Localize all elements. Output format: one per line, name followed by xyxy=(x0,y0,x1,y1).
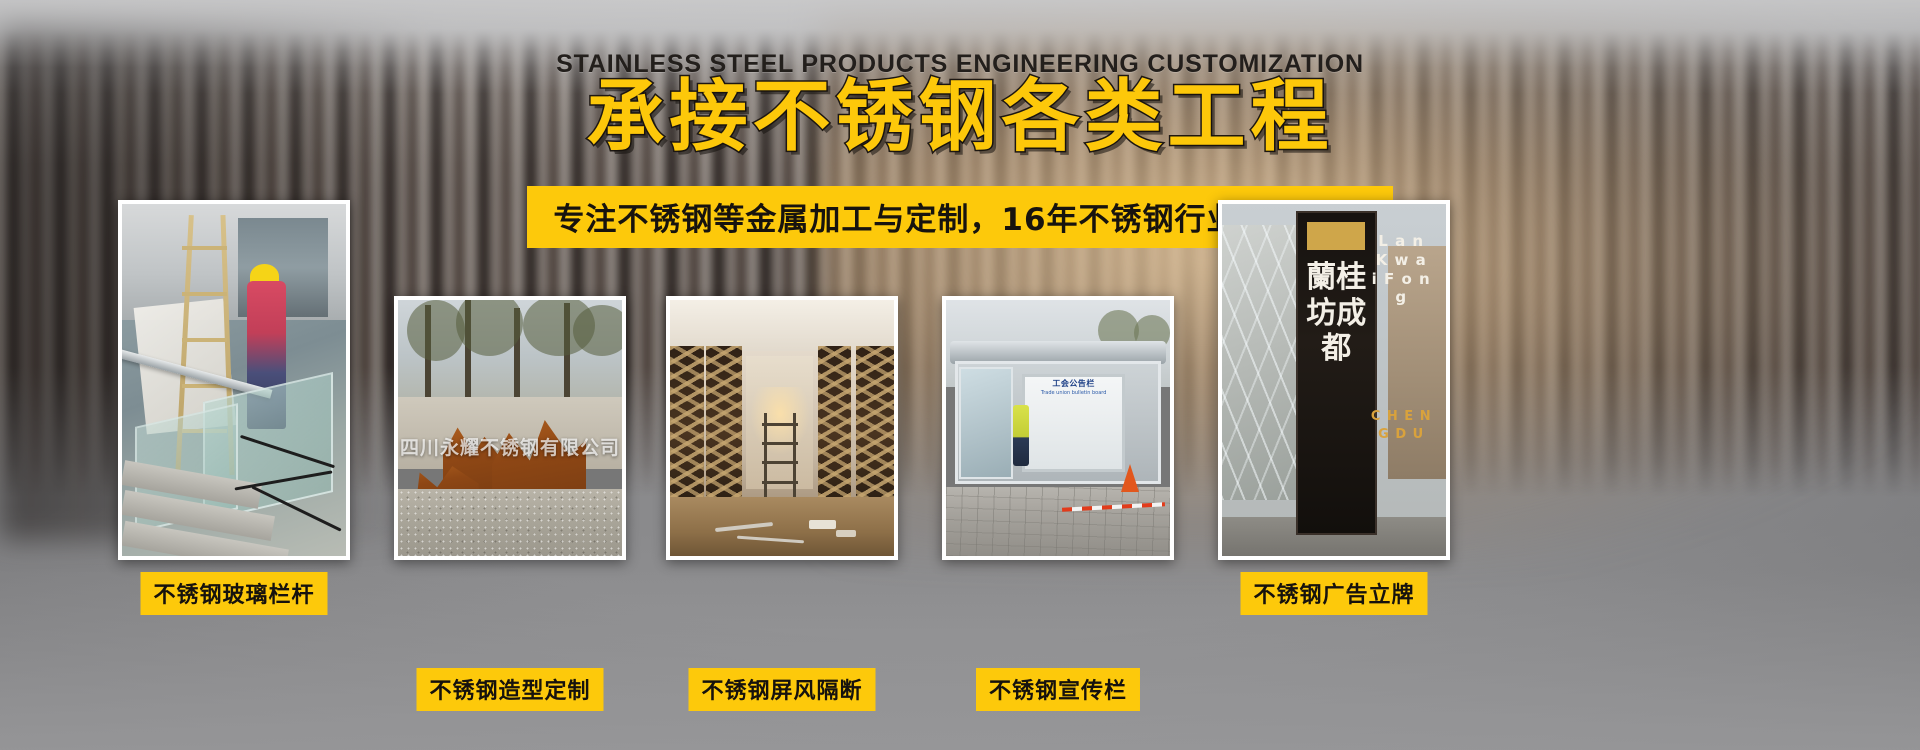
gallery-item-caption: 不锈钢玻璃栏杆 xyxy=(140,572,327,615)
photo-screen-partition xyxy=(670,300,894,556)
photo-advertising-pylon: 蘭桂 坊成 都 L a n K w a i F o n g C H E N G … xyxy=(1222,204,1446,556)
gallery-item-caption: 不锈钢广告立牌 xyxy=(1240,572,1427,615)
promo-banner: STAINLESS STEEL PRODUCTS ENGINEERING CUS… xyxy=(0,0,1920,750)
ladder-shape xyxy=(762,413,798,500)
board-subtitle: Trade union bulletin board xyxy=(1022,390,1125,396)
photo-frame: 蘭桂 坊成 都 L a n K w a i F o n g C H E N G … xyxy=(1218,200,1450,560)
photo-bulletin-board-shelter: 工会公告栏 Trade union bulletin board xyxy=(946,300,1170,556)
photo-frame xyxy=(118,200,350,560)
sign-chinese-text: 蘭桂 坊成 都 xyxy=(1296,260,1377,366)
gallery-item-caption: 不锈钢宣传栏 xyxy=(976,668,1140,711)
photo-frame: 四川永耀不锈钢有限公司 xyxy=(394,296,626,560)
sign-logo xyxy=(1307,222,1365,250)
photo-frame xyxy=(666,296,898,560)
sign-english-bottom: C H E N G D U xyxy=(1370,408,1433,443)
sign-english-top: L a n K w a i F o n g xyxy=(1370,232,1433,307)
gallery-item[interactable]: 四川永耀不锈钢有限公司 不锈钢造型定制 xyxy=(394,296,626,560)
gallery: 不锈钢玻璃栏杆 xyxy=(0,0,1920,750)
gallery-item-caption: 不锈钢造型定制 xyxy=(416,668,603,711)
gallery-item-caption: 不锈钢屏风隔断 xyxy=(688,668,875,711)
board-title: 工会公告栏 xyxy=(1022,378,1125,389)
gallery-item[interactable]: 不锈钢屏风隔断 xyxy=(666,296,898,560)
gallery-item[interactable]: 蘭桂 坊成 都 L a n K w a i F o n g C H E N G … xyxy=(1218,200,1450,560)
photo-corten-sculpture: 四川永耀不锈钢有限公司 xyxy=(398,300,622,556)
gallery-item[interactable]: 工会公告栏 Trade union bulletin board 不锈钢宣传栏 xyxy=(942,296,1174,560)
photo-watermark: 四川永耀不锈钢有限公司 xyxy=(398,433,622,460)
gallery-item[interactable]: 不锈钢玻璃栏杆 xyxy=(118,200,350,560)
photo-stainless-glass-railing xyxy=(122,204,346,556)
photo-frame: 工会公告栏 Trade union bulletin board xyxy=(942,296,1174,560)
